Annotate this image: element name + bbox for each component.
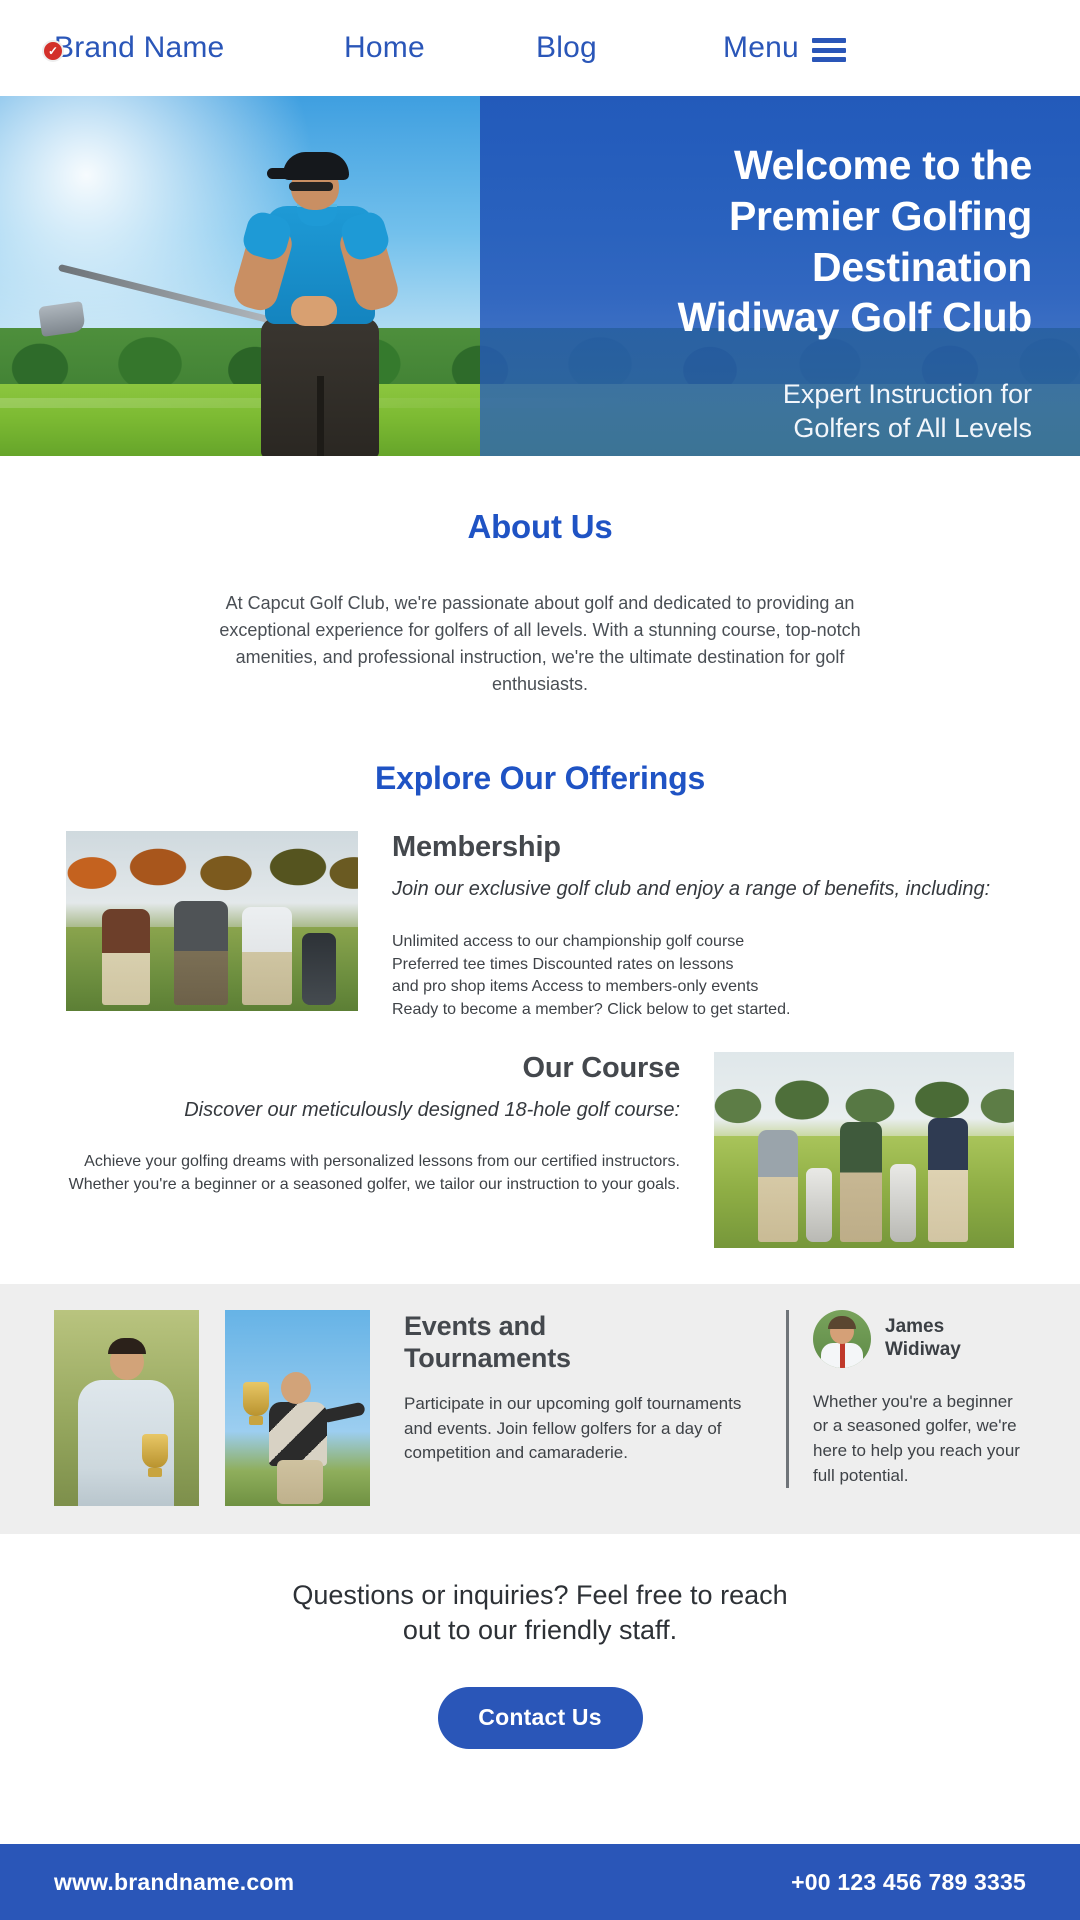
golf-bag [302,933,336,1005]
events-content: Events and Tournaments Participate in ou… [0,1310,1080,1506]
golfer-sweater [269,1402,327,1466]
about-paragraph: At Capcut Golf Club, we're passionate ab… [210,590,870,698]
events-title: Events and Tournaments [404,1310,760,1375]
avatar [813,1310,871,1368]
membership-photo [66,831,358,1011]
golfer-cap [283,152,349,180]
testimonial-quote: Whether you're a beginner or a seasoned … [813,1390,1026,1489]
hero-text-panel: Welcome to the Premier Golfing Destinati… [480,96,1080,456]
hero-subtitle-line-2: Golfers of All Levels [520,411,1032,445]
course-text: Our Course Discover our meticulously des… [54,1052,680,1197]
about-section: About Us At Capcut Golf Club, we're pass… [0,456,1080,797]
events-title-line-2: Tournaments [404,1342,760,1374]
hero-title: Welcome to the Premier Golfing Destinati… [520,140,1032,343]
testimonial-header: ✓ James Widiway [813,1310,1026,1368]
hero-subtitle: Expert Instruction for Golfers of All Le… [520,377,1032,445]
course-lead: Discover our meticulously designed 18-ho… [54,1097,680,1124]
footer-phone-number[interactable]: +00 123 456 789 3335 [791,1869,1026,1896]
footer-website-link[interactable]: www.brandname.com [54,1869,294,1896]
hamburger-menu-icon[interactable] [812,38,846,62]
golfer-figure [102,909,150,1005]
hamburger-bar [812,48,846,53]
hamburger-bar [812,57,846,62]
golfer-leg-split [317,376,324,456]
golfer-hands-grip [291,296,337,326]
membership-lead: Join our exclusive golf club and enjoy a… [392,876,1026,903]
contact-question-line-2: out to our friendly staff. [0,1613,1080,1649]
landing-page: Brand Name Home Blog Menu [0,0,1080,1920]
events-photo-winner [54,1310,199,1506]
trophy-icon [142,1434,168,1468]
about-heading: About Us [0,508,1080,546]
hero-title-line-2: Premier Golfing [520,191,1032,242]
golfer-figure [174,901,228,1005]
nav-link-home[interactable]: Home [344,31,425,65]
nav-link-blog[interactable]: Blog [536,31,597,65]
top-navigation-bar: Brand Name Home Blog Menu [0,0,1080,96]
membership-benefit-item: Preferred tee times Discounted rates on … [392,954,1026,977]
nav-link-menu[interactable]: Menu [723,31,799,65]
membership-photo-golfers [66,899,358,1005]
hamburger-bar [812,38,846,43]
course-title: Our Course [54,1052,680,1085]
events-section: Events and Tournaments Participate in ou… [0,1284,1080,1534]
events-paragraph: Participate in our upcoming golf tournam… [404,1392,760,1464]
contact-section: Questions or inquiries? Feel free to rea… [0,1534,1080,1749]
brand-logo-text[interactable]: Brand Name [54,31,224,65]
hero-title-line-3: Destination [520,242,1032,293]
events-text-block: Events and Tournaments Participate in ou… [396,1310,760,1465]
footer-bar: www.brandname.com +00 123 456 789 3335 [0,1844,1080,1920]
membership-benefit-item: and pro shop items Access to members-onl… [392,976,1026,999]
course-paragraph: Achieve your golfing dreams with persona… [54,1151,680,1196]
golfer-figure [242,907,292,1005]
golf-bag [806,1168,832,1242]
hero-title-line-4: Widiway Golf Club [520,292,1032,343]
membership-benefit-item: Unlimited access to our championship gol… [392,931,1026,954]
course-photo-golfers [714,1136,1014,1242]
sunglasses-icon [289,182,333,191]
trophy-icon [243,1382,269,1416]
golfer-trousers [277,1460,323,1504]
golfer-figure [840,1122,882,1242]
offerings-heading: Explore Our Offerings [0,760,1080,797]
verified-check-icon: ✓ [42,40,64,62]
course-block: Our Course Discover our meticulously des… [0,1022,1080,1248]
hero-title-line-1: Welcome to the [520,140,1032,191]
testimonial-block: ✓ James Widiway Whether you're a beginne… [786,1310,1026,1489]
events-photo-trophy [225,1310,370,1506]
hero-banner: Welcome to the Premier Golfing Destinati… [0,96,1080,456]
hero-subtitle-line-1: Expert Instruction for [520,377,1032,411]
golfer-figure [758,1130,798,1242]
membership-text: Membership Join our exclusive golf club … [392,831,1026,1022]
avatar-hair [828,1316,856,1329]
golf-bag [890,1164,916,1242]
golfer-figure [928,1118,968,1242]
golfer-photo [205,126,455,456]
testimonial-name-line-1: James [885,1316,961,1338]
membership-title: Membership [392,831,1026,864]
membership-benefits-list: Unlimited access to our championship gol… [392,931,1026,1022]
testimonial-name-line-2: Widiway [885,1339,961,1361]
membership-block: Membership Join our exclusive golf club … [0,797,1080,1022]
course-photo [714,1052,1014,1248]
avatar-shirt-stripe [840,1343,845,1368]
membership-cta-text: Ready to become a member? Click below to… [392,999,1026,1022]
golfer-head [281,1372,311,1404]
contact-question: Questions or inquiries? Feel free to rea… [0,1578,1080,1649]
contact-us-button[interactable]: Contact Us [438,1687,643,1749]
testimonial-name: James Widiway [885,1316,961,1361]
events-title-line-1: Events and [404,1310,760,1342]
contact-question-line-1: Questions or inquiries? Feel free to rea… [0,1578,1080,1614]
